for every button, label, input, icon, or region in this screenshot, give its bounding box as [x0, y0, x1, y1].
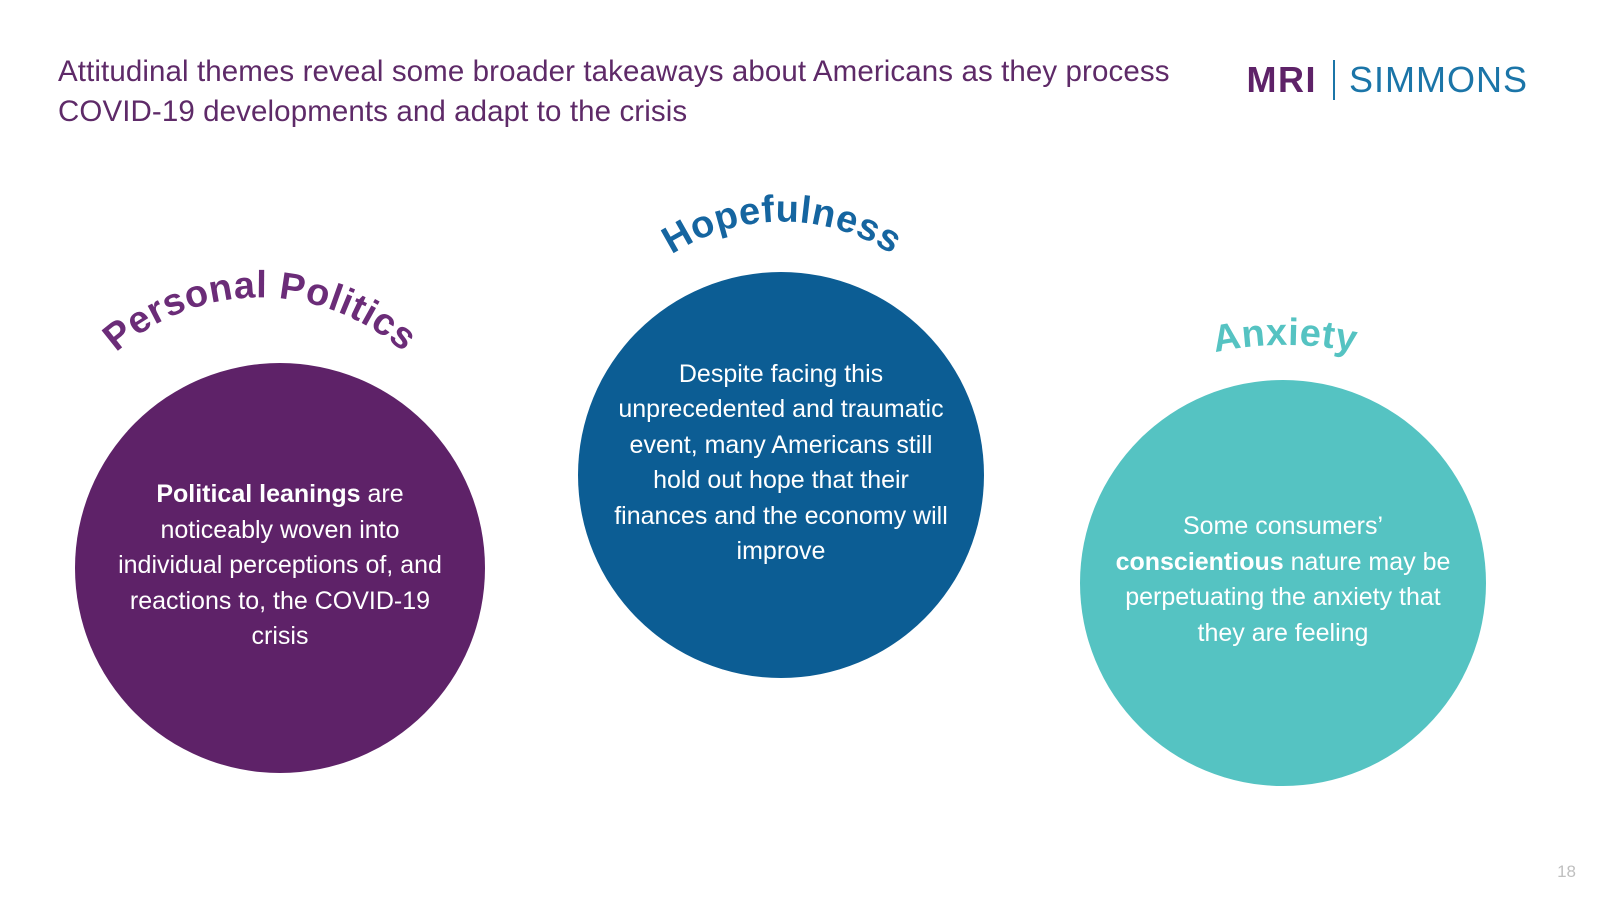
theme-body-lead-anxiety: conscientious — [1116, 548, 1284, 576]
theme-body-lead-personal-politics: Political leanings — [156, 480, 360, 508]
theme-body-anxiety: Some consumers’ conscientious nature may… — [1080, 509, 1486, 651]
theme-label-text-anxiety: Anxiety — [1209, 312, 1360, 361]
theme-body-pre-anxiety: Some consumers’ — [1183, 512, 1383, 540]
theme-label-text-hopefulness: Hopefulness — [655, 188, 909, 262]
theme-label-text-personal-politics: Personal Politics — [95, 264, 424, 359]
page-title: Attitudinal themes reveal some broader t… — [58, 52, 1188, 132]
theme-circle-personal-politics: Political leanings are noticeably woven … — [75, 363, 485, 773]
theme-body-hopefulness: Despite facing this unprecedented and tr… — [578, 357, 984, 570]
theme-circle-hopefulness: Despite facing this unprecedented and tr… — [578, 272, 984, 678]
theme-label-anxiety: Anxiety — [1140, 296, 1430, 376]
logo-divider — [1333, 60, 1335, 100]
brand-logo: MRI SIMMONS — [1246, 58, 1528, 102]
theme-body-personal-politics: Political leanings are noticeably woven … — [75, 477, 485, 655]
theme-body-rest-hopefulness: Despite facing this unprecedented and tr… — [614, 360, 948, 566]
theme-circle-anxiety: Some consumers’ conscientious nature may… — [1080, 380, 1486, 786]
logo-simmons-text: SIMMONS — [1349, 62, 1528, 98]
page-number: 18 — [1557, 862, 1576, 882]
logo-mri-text: MRI — [1246, 62, 1317, 98]
